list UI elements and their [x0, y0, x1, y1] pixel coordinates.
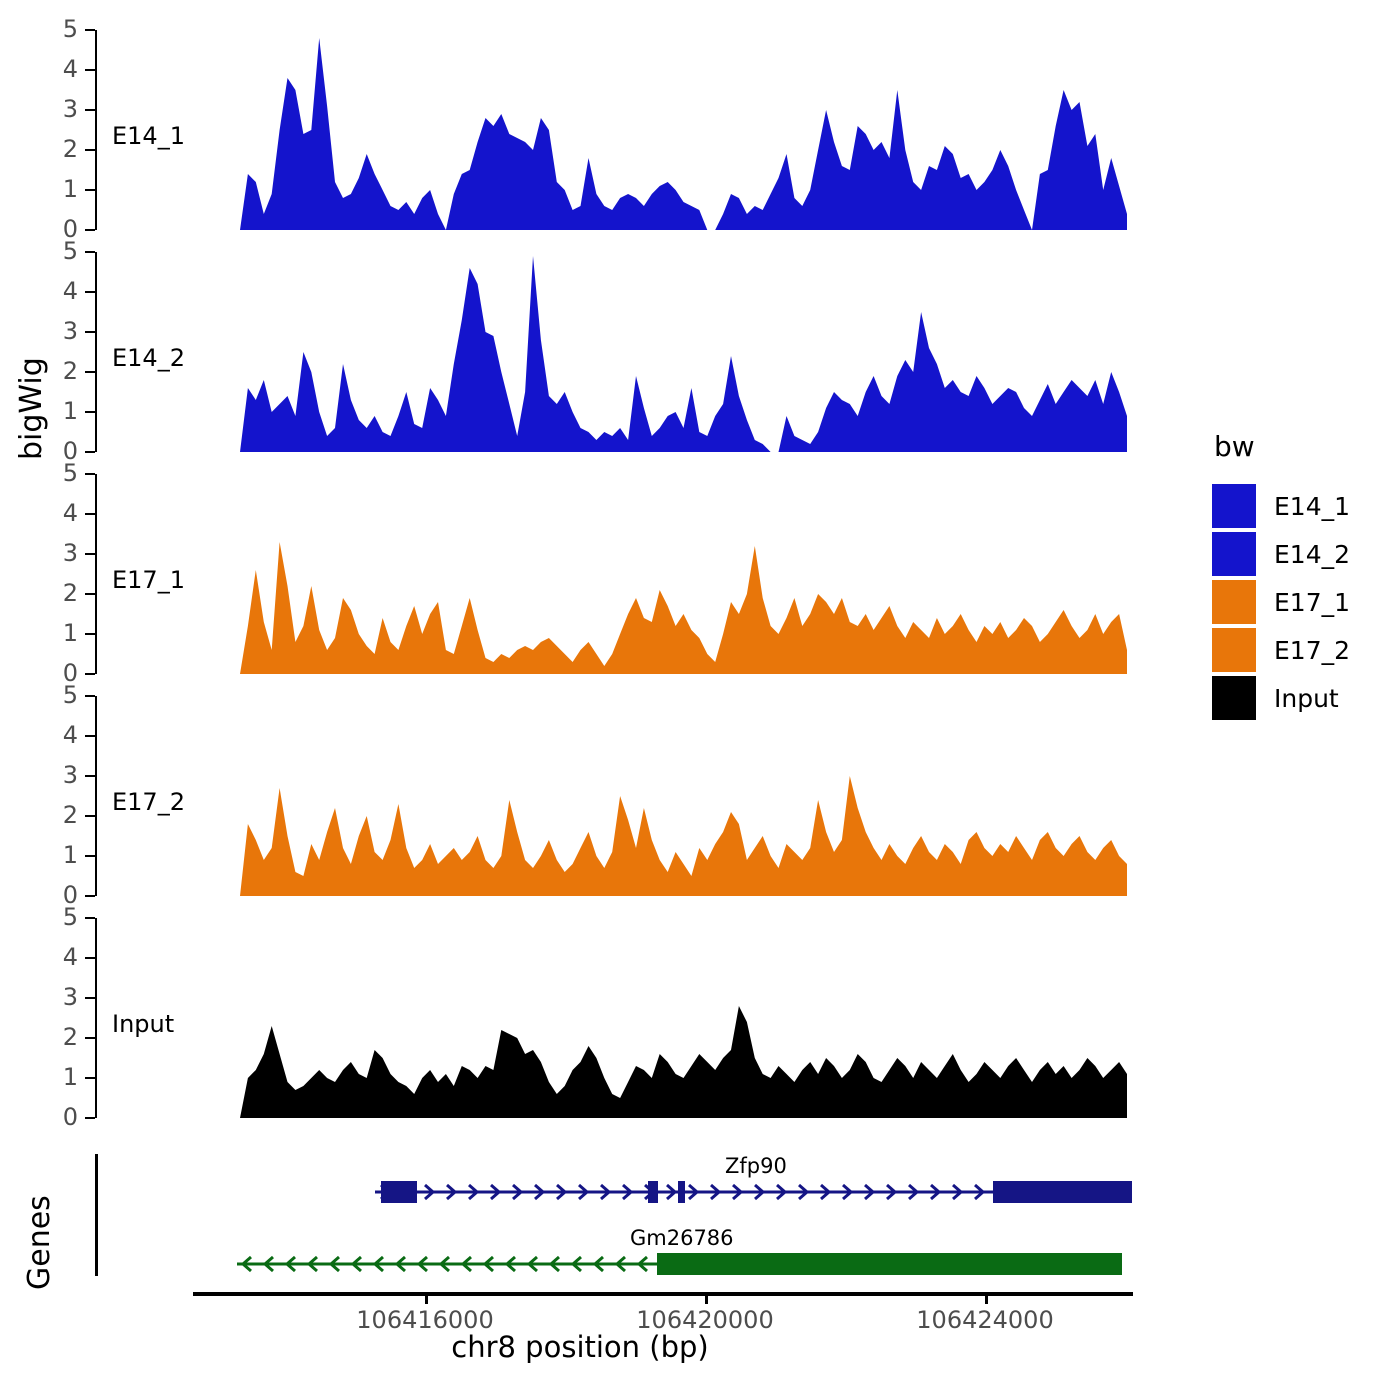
- y-tick-label: 1: [48, 1065, 78, 1089]
- y-tick-label: 2: [48, 137, 78, 161]
- legend-item-e14_2[interactable]: E14_2: [1212, 531, 1392, 577]
- y-tick: [85, 331, 95, 333]
- y-tick: [85, 1077, 95, 1079]
- y-tick: [85, 735, 95, 737]
- genes-panel: Zfp90 Gm26786: [0, 1150, 1160, 1305]
- y-tick: [85, 997, 95, 999]
- y-tick: [85, 371, 95, 373]
- y-tick: [85, 895, 95, 897]
- y-tick-label: 5: [48, 905, 78, 929]
- x-tick: [985, 1292, 988, 1304]
- y-tick-label: 2: [48, 359, 78, 383]
- coverage-area-e14_2: [97, 252, 1160, 452]
- y-tick-label: 3: [48, 763, 78, 787]
- y-tick-label: 3: [48, 541, 78, 565]
- legend: bw E14_1E14_2E17_1E17_2Input: [1212, 430, 1392, 723]
- y-tick: [85, 69, 95, 71]
- x-axis-line: [193, 1292, 1133, 1296]
- y-tick: [85, 109, 95, 111]
- y-tick: [85, 553, 95, 555]
- gene-track-zfp90[interactable]: [97, 1172, 1160, 1212]
- y-tick-label: 3: [48, 985, 78, 1009]
- track-input: 543210Input: [0, 918, 1160, 1118]
- y-tick: [85, 29, 95, 31]
- y-tick-label: 3: [48, 97, 78, 121]
- y-tick: [85, 633, 95, 635]
- y-tick: [85, 411, 95, 413]
- y-tick: [85, 1037, 95, 1039]
- y-tick: [85, 593, 95, 595]
- legend-swatch: [1212, 484, 1256, 528]
- legend-swatch: [1212, 676, 1256, 720]
- y-tick-label: 2: [48, 581, 78, 605]
- legend-swatch: [1212, 628, 1256, 672]
- legend-item-input[interactable]: Input: [1212, 675, 1392, 721]
- legend-title: bw: [1214, 430, 1392, 463]
- y-tick: [85, 513, 95, 515]
- y-tick: [85, 229, 95, 231]
- legend-item-e14_1[interactable]: E14_1: [1212, 483, 1392, 529]
- y-tick: [85, 855, 95, 857]
- coverage-area-e14_1: [97, 30, 1160, 230]
- legend-label: E17_1: [1274, 588, 1350, 617]
- y-tick-label: 5: [48, 17, 78, 41]
- y-tick: [85, 695, 95, 697]
- coverage-area-e17_2: [97, 696, 1160, 896]
- x-axis-title: chr8 position (bp): [0, 1330, 1160, 1364]
- y-tick-label: 5: [48, 239, 78, 263]
- track-e17_2: 543210E17_2: [0, 696, 1160, 896]
- track-e17_1: 543210E17_1: [0, 474, 1160, 674]
- y-tick-label: 3: [48, 319, 78, 343]
- y-tick-label: 5: [48, 683, 78, 707]
- track-e14_2: 543210E14_2: [0, 252, 1160, 452]
- legend-item-e17_2[interactable]: E17_2: [1212, 627, 1392, 673]
- y-tick: [85, 1117, 95, 1119]
- y-tick: [85, 291, 95, 293]
- y-tick-label: 5: [48, 461, 78, 485]
- y-tick: [85, 149, 95, 151]
- legend-swatch: [1212, 532, 1256, 576]
- y-tick-label: 0: [48, 1105, 78, 1129]
- y-tick: [85, 473, 95, 475]
- legend-label: E14_2: [1274, 540, 1350, 569]
- legend-item-e17_1[interactable]: E17_1: [1212, 579, 1392, 625]
- y-tick-label: 4: [48, 945, 78, 969]
- y-tick-label: 4: [48, 723, 78, 747]
- y-tick-label: 1: [48, 399, 78, 423]
- y-tick: [85, 251, 95, 253]
- y-tick-label: 1: [48, 621, 78, 645]
- y-tick: [85, 957, 95, 959]
- y-tick: [85, 775, 95, 777]
- legend-swatch: [1212, 580, 1256, 624]
- track-e14_1: 543210E14_1: [0, 30, 1160, 230]
- y-tick-label: 1: [48, 843, 78, 867]
- coverage-area-input: [97, 918, 1160, 1118]
- y-tick-label: 2: [48, 803, 78, 827]
- y-tick: [85, 917, 95, 919]
- y-tick-label: 1: [48, 177, 78, 201]
- gene-track-gm26786[interactable]: [97, 1244, 1160, 1284]
- x-tick: [425, 1292, 428, 1304]
- y-tick: [85, 189, 95, 191]
- legend-label: E17_2: [1274, 636, 1350, 665]
- legend-label: Input: [1274, 684, 1339, 713]
- y-tick-label: 2: [48, 1025, 78, 1049]
- x-tick: [705, 1292, 708, 1304]
- y-tick-label: 4: [48, 279, 78, 303]
- x-axis: 106416000106420000106424000: [0, 1292, 1160, 1332]
- coverage-area-e17_1: [97, 474, 1160, 674]
- y-tick-label: 4: [48, 501, 78, 525]
- legend-label: E14_1: [1274, 492, 1350, 521]
- y-tick: [85, 815, 95, 817]
- y-tick: [85, 673, 95, 675]
- y-tick: [85, 451, 95, 453]
- y-tick-label: 4: [48, 57, 78, 81]
